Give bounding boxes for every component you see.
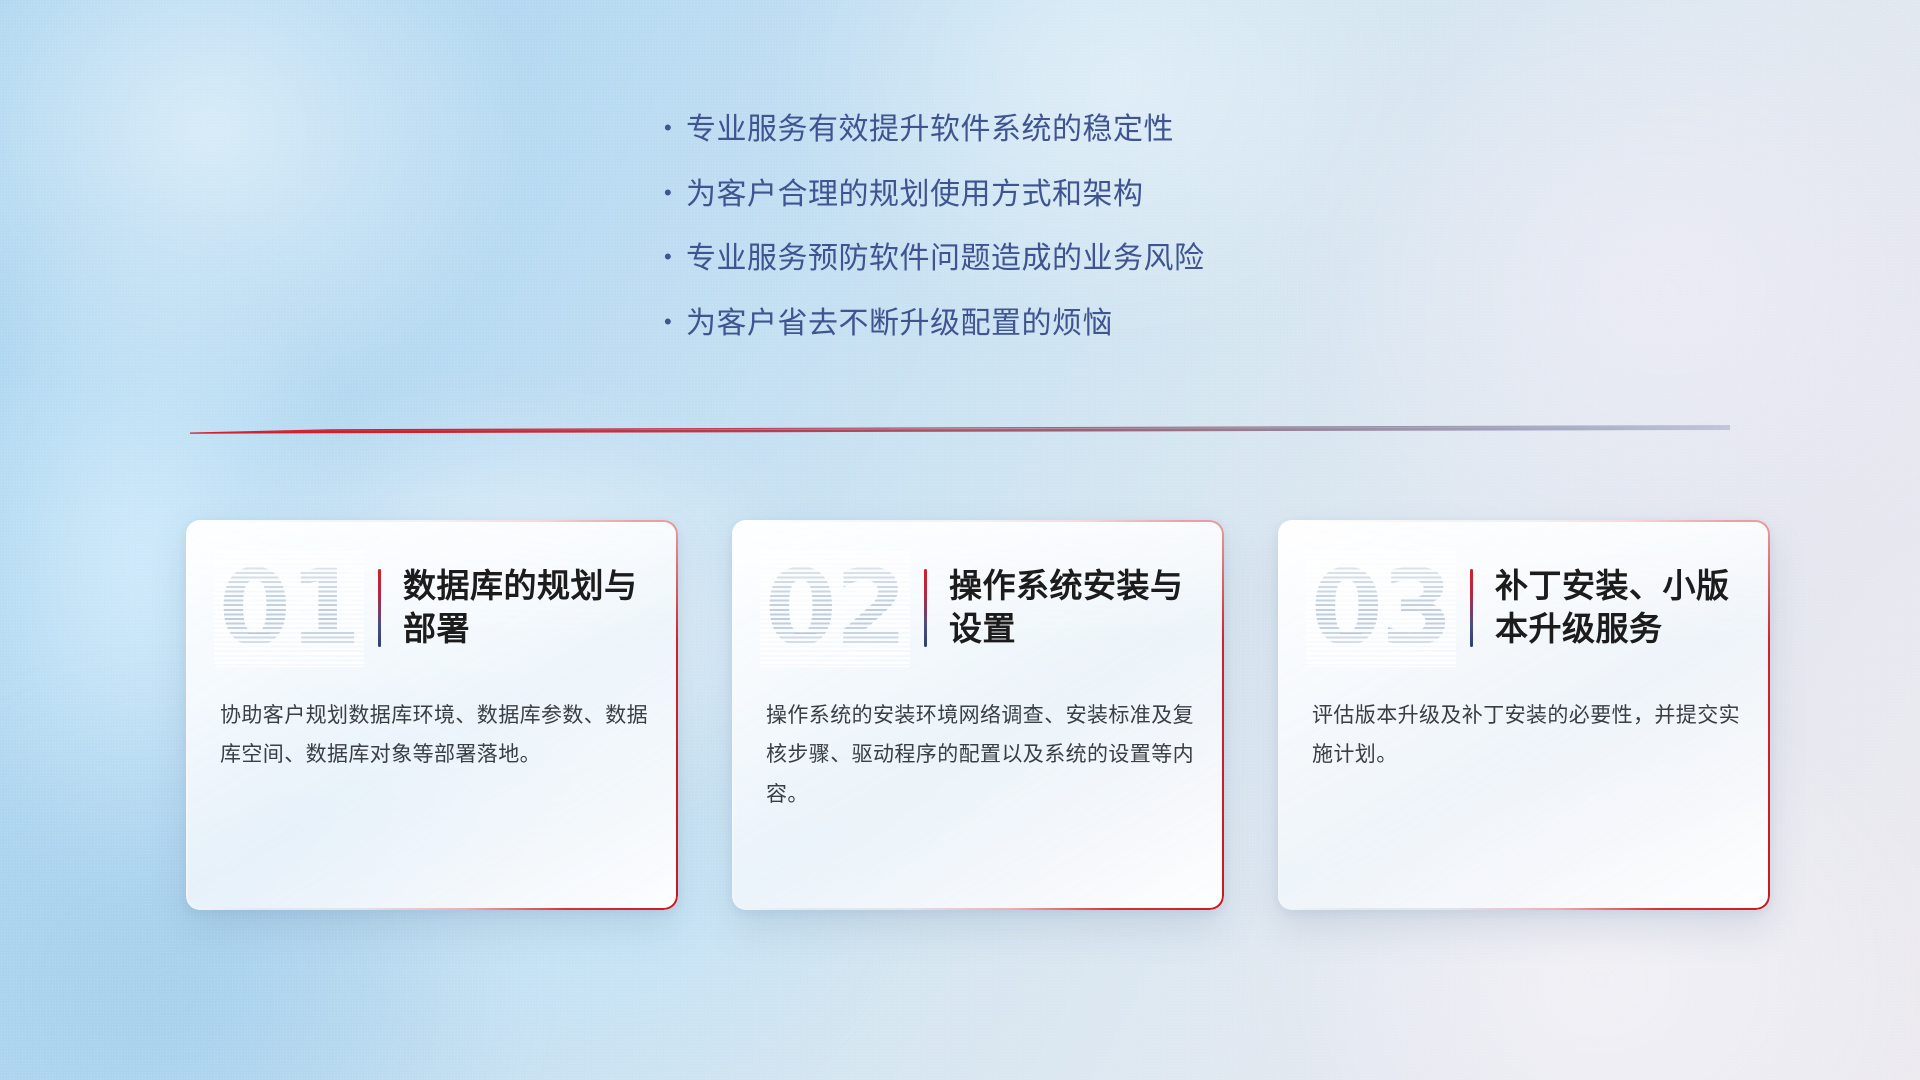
card-title: 操作系统安装与设置 [949, 565, 1194, 651]
ghost-number-03: 03 [1306, 549, 1456, 667]
list-item: • 专业服务有效提升软件系统的稳定性 [664, 112, 1424, 149]
card-title: 补丁安装、小版本升级服务 [1495, 565, 1740, 651]
card-title: 数据库的规划与部署 [403, 565, 648, 651]
bullet-dot-icon: • [664, 182, 686, 204]
card-title-divider [378, 569, 381, 647]
bullet-dot-icon: • [664, 246, 686, 268]
card-body-text: 协助客户规划数据库环境、数据库参数、数据库空间、数据库对象等部署落地。 [186, 696, 678, 775]
service-card-03[interactable]: 03 补丁安装、小版本升级服务 评估版本升级及补丁安装的必要性，并提交实施计划。 [1278, 520, 1770, 910]
card-header: 03 补丁安装、小版本升级服务 [1278, 520, 1770, 696]
ghost-number-text: 02 [765, 556, 906, 660]
service-card-grid: 01 数据库的规划与部署 协助客户规划数据库环境、数据库参数、数据库空间、数据库… [186, 520, 1770, 910]
card-header: 01 数据库的规划与部署 [186, 520, 678, 696]
bullet-dot-icon: • [664, 311, 686, 333]
section-divider [190, 424, 1730, 440]
slide-canvas: • 专业服务有效提升软件系统的稳定性 • 为客户合理的规划使用方式和架构 • 专… [0, 0, 1920, 1080]
background-glow-top-left [0, 0, 660, 540]
card-body-text: 评估版本升级及补丁安装的必要性，并提交实施计划。 [1278, 696, 1770, 775]
bullet-text: 专业服务预防软件问题造成的业务风险 [686, 241, 1205, 278]
card-title-divider [924, 569, 927, 647]
list-item: • 专业服务预防软件问题造成的业务风险 [664, 241, 1424, 278]
bullet-text: 为客户合理的规划使用方式和架构 [686, 177, 1144, 214]
bullet-text: 专业服务有效提升软件系统的稳定性 [686, 112, 1174, 149]
service-card-01[interactable]: 01 数据库的规划与部署 协助客户规划数据库环境、数据库参数、数据库空间、数据库… [186, 520, 678, 910]
list-item: • 为客户省去不断升级配置的烦恼 [664, 306, 1424, 343]
card-body-text: 操作系统的安装环境网络调查、安装标准及复核步骤、驱动程序的配置以及系统的设置等内… [732, 696, 1224, 814]
bullet-dot-icon: • [664, 117, 686, 139]
card-header: 02 操作系统安装与设置 [732, 520, 1224, 696]
benefit-bullet-list: • 专业服务有效提升软件系统的稳定性 • 为客户合理的规划使用方式和架构 • 专… [664, 112, 1424, 370]
ghost-number-01: 01 [214, 549, 364, 667]
ghost-number-02: 02 [760, 549, 910, 667]
red-tapered-accent-line [190, 424, 1730, 440]
list-item: • 为客户合理的规划使用方式和架构 [664, 177, 1424, 214]
service-card-02[interactable]: 02 操作系统安装与设置 操作系统的安装环境网络调查、安装标准及复核步骤、驱动程… [732, 520, 1224, 910]
ghost-number-text: 01 [219, 556, 360, 660]
ghost-number-text: 03 [1311, 556, 1452, 660]
card-title-divider [1470, 569, 1473, 647]
bullet-text: 为客户省去不断升级配置的烦恼 [686, 306, 1113, 343]
